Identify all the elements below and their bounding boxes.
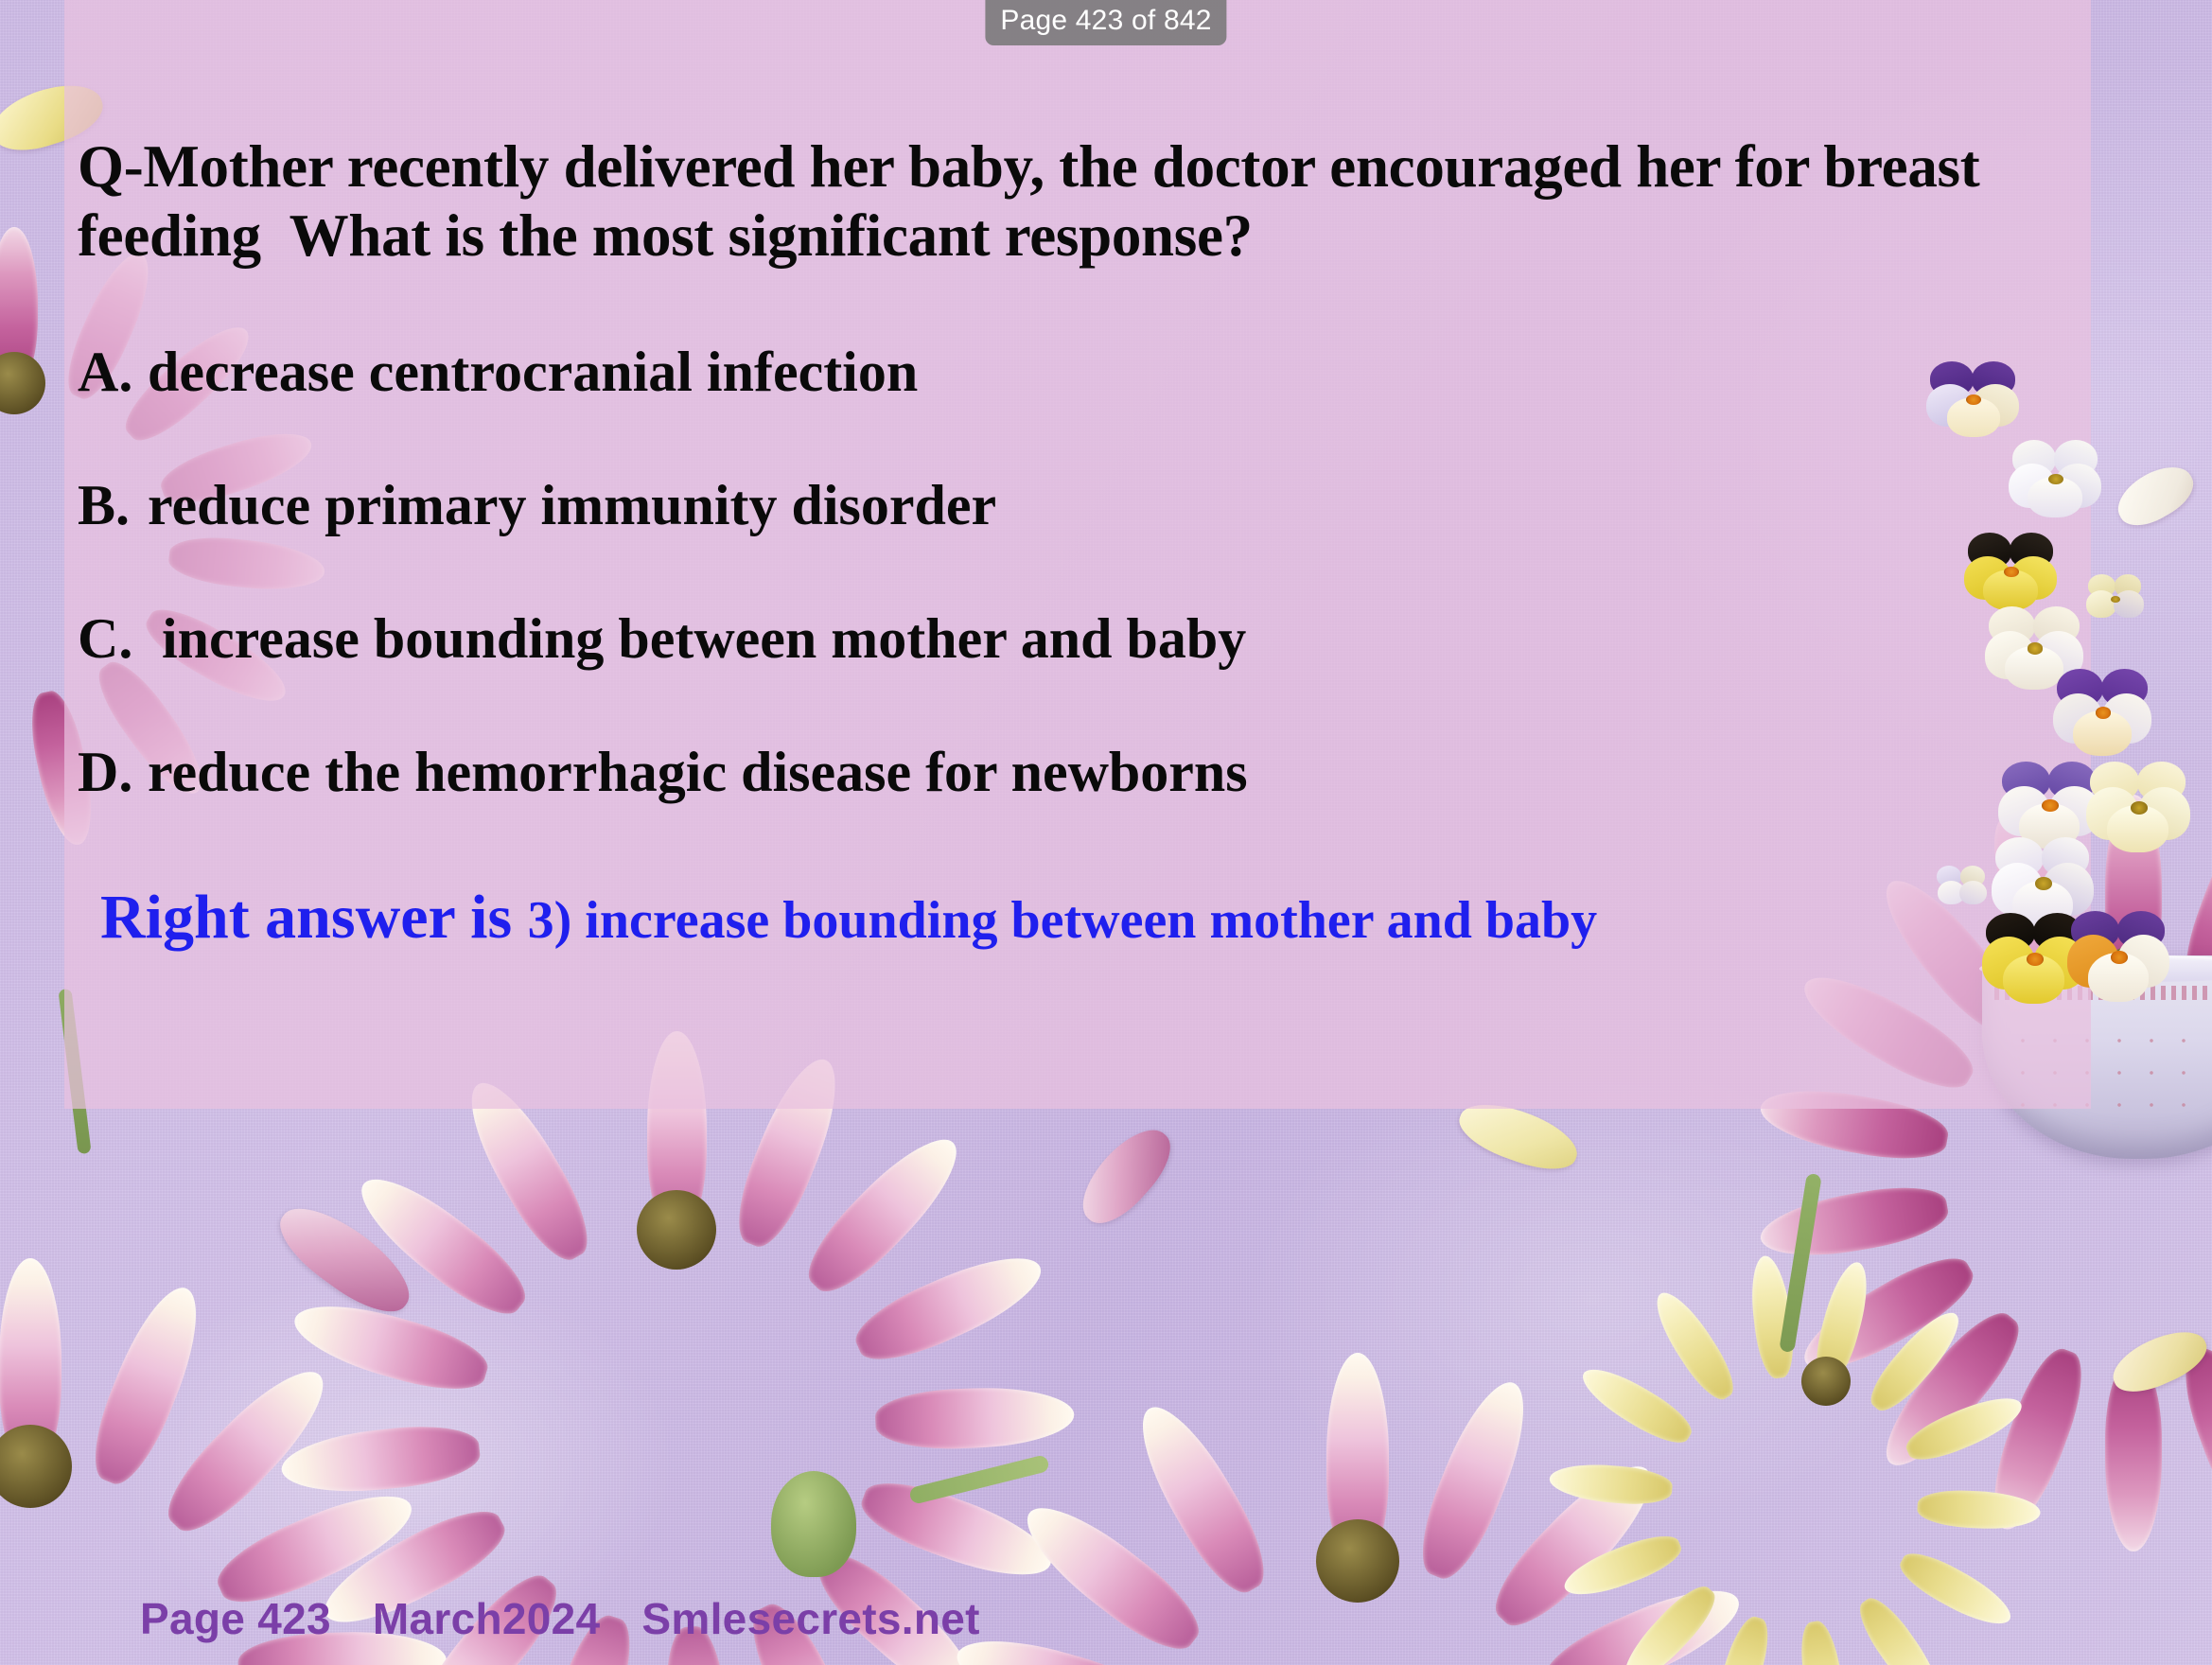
daisy-petals: [1676, 1231, 1976, 1532]
pansy-center: [2131, 801, 2148, 814]
pansy-center: [2111, 596, 2120, 603]
pansy-center: [2027, 953, 2044, 965]
option-c[interactable]: C. increase bounding between mother and …: [78, 609, 2064, 669]
answer-line: Right answer is 3) increase bounding bet…: [78, 868, 1597, 966]
option-c-text: increase bounding between mother and bab…: [148, 609, 1246, 669]
option-b[interactable]: B. reduce primary immunity disorder: [78, 476, 2064, 535]
petal-decor: [2105, 1321, 2212, 1403]
petal-decor: [267, 1191, 424, 1327]
petal-decor: [1068, 1116, 1184, 1236]
option-d[interactable]: D. reduce the hemorrhagic disease for ne…: [78, 743, 2064, 802]
pansy-center: [2096, 707, 2112, 719]
pansy-flower: [2053, 669, 2153, 756]
option-d-letter: D.: [78, 743, 148, 802]
daisy-flower-decor: [1150, 1353, 1566, 1665]
pansy-center: [2004, 567, 2019, 577]
option-d-text: reduce the hemorrhagic disease for newbo…: [148, 743, 1248, 802]
answer-lead-label: Right answer is: [100, 883, 528, 952]
daisy-core: [0, 352, 45, 414]
question-text: Q-Mother recently delivered her baby, th…: [78, 132, 2083, 271]
flower-stem-decor: [908, 1454, 1050, 1505]
pansy-flower: [1982, 913, 2088, 1004]
option-b-letter: B.: [78, 476, 148, 535]
pansy-center: [2028, 642, 2044, 654]
pansy-center: [2035, 877, 2052, 889]
pansy-flower: [1998, 762, 2102, 849]
daisy-petals: [1150, 1353, 1566, 1665]
pansy-center: [2042, 799, 2059, 812]
option-c-letter: C.: [78, 609, 148, 669]
option-b-text: reduce primary immunity disorder: [148, 476, 996, 535]
daisy-core: [637, 1190, 716, 1270]
pansy-center: [2048, 474, 2063, 484]
footer: Page 423 March2024 Smlesecrets.net: [140, 1593, 980, 1644]
option-a-letter: A.: [78, 342, 148, 402]
pansy-flower: [1992, 837, 2096, 928]
pansy-flower: [2009, 440, 2103, 517]
pansy-flower: [1935, 866, 1988, 909]
answer-text: 3) increase bounding between mother and …: [528, 891, 1598, 950]
pansy-cascade-decor: [1883, 364, 2212, 1026]
option-a-text: decrease centrocranial infection: [148, 342, 918, 402]
daisy-core: [1796, 1351, 1856, 1411]
slide-screen: Q-Mother recently delivered her baby, th…: [0, 0, 2212, 1665]
daisy-flower-decor: [1676, 1231, 1976, 1532]
pansy-flower: [1964, 533, 2059, 610]
pansy-flower: [2086, 762, 2192, 852]
option-a[interactable]: A. decrease centrocranial infection: [78, 342, 2064, 402]
pansy-flower: [1985, 606, 2085, 690]
pansy-center: [2111, 951, 2128, 963]
pansy-flower: [2067, 911, 2171, 1002]
options-list: A. decrease centrocranial infection B. r…: [78, 342, 2064, 876]
daisy-core: [0, 1425, 72, 1508]
flower-stem-decor: [1779, 1173, 1822, 1353]
slide-content-panel: Q-Mother recently delivered her baby, th…: [64, 0, 2091, 1109]
pansy-flower: [2086, 574, 2145, 623]
page-indicator-badge: Page 423 of 842: [985, 0, 1226, 45]
pansy-center: [1966, 394, 1981, 405]
footer-date-label: March2024: [373, 1593, 601, 1644]
daisy-core: [1316, 1519, 1399, 1603]
flower-bud-decor: [771, 1471, 856, 1577]
footer-site-label: Smlesecrets.net: [641, 1593, 979, 1644]
footer-page-label: Page 423: [140, 1593, 331, 1644]
pansy-flower: [1926, 361, 2021, 437]
